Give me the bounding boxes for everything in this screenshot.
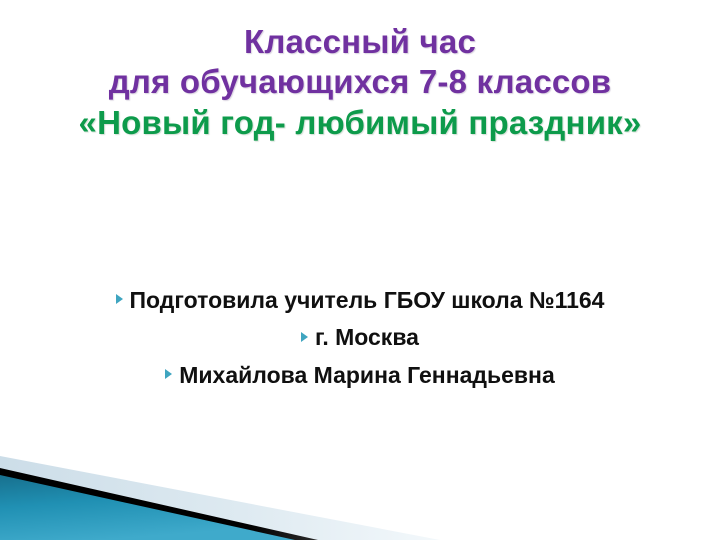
list-item: Подготовила учитель ГБОУ школа №1164: [0, 282, 720, 319]
title-line-3: «Новый год- любимый праздник»: [0, 103, 720, 143]
bullet-triangle-icon: [301, 332, 308, 342]
accent-light-triangle: [0, 456, 440, 540]
list-item: Михайлова Марина Геннадьевна: [0, 357, 720, 394]
list-item-label: Подготовила учитель ГБОУ школа №1164: [130, 287, 605, 313]
list-item: г. Москва: [0, 319, 720, 356]
bullet-triangle-icon: [165, 369, 172, 379]
accent-black-stripe: [0, 468, 318, 540]
title-line-1: Классный час: [0, 22, 720, 62]
list-item-label: г. Москва: [315, 324, 419, 350]
corner-decoration-graphic: [0, 420, 720, 540]
presentation-slide: Классный час для обучающихся 7-8 классов…: [0, 0, 720, 540]
accent-teal-triangle: [0, 475, 295, 540]
slide-title: Классный час для обучающихся 7-8 классов…: [0, 22, 720, 143]
bullet-triangle-icon: [116, 294, 123, 304]
slide-body-list: Подготовила учитель ГБОУ школа №1164 г. …: [0, 282, 720, 394]
list-item-label: Михайлова Марина Геннадьевна: [179, 362, 554, 388]
title-line-2: для обучающихся 7-8 классов: [0, 62, 720, 102]
